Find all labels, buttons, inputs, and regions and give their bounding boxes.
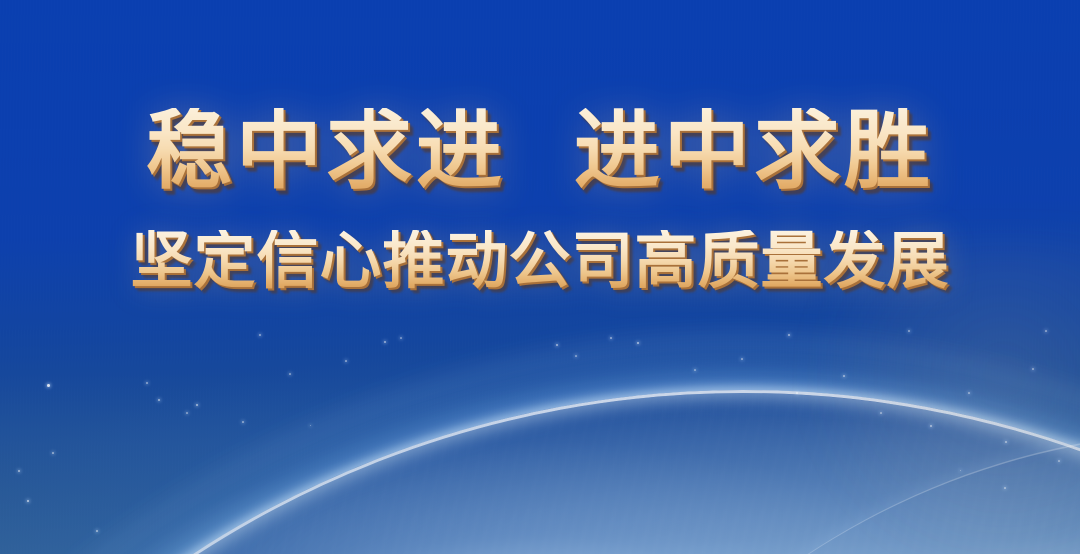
poster-canvas: 稳中求进 进中求胜 坚定信心推动公司高质量发展 xyxy=(0,0,1080,554)
slogan-text-block: 稳中求进 进中求胜 坚定信心推动公司高质量发展 xyxy=(0,108,1080,292)
poster-subheadline: 坚定信心推动公司高质量发展 xyxy=(0,230,1080,292)
poster-headline: 稳中求进 进中求胜 xyxy=(0,108,1080,200)
